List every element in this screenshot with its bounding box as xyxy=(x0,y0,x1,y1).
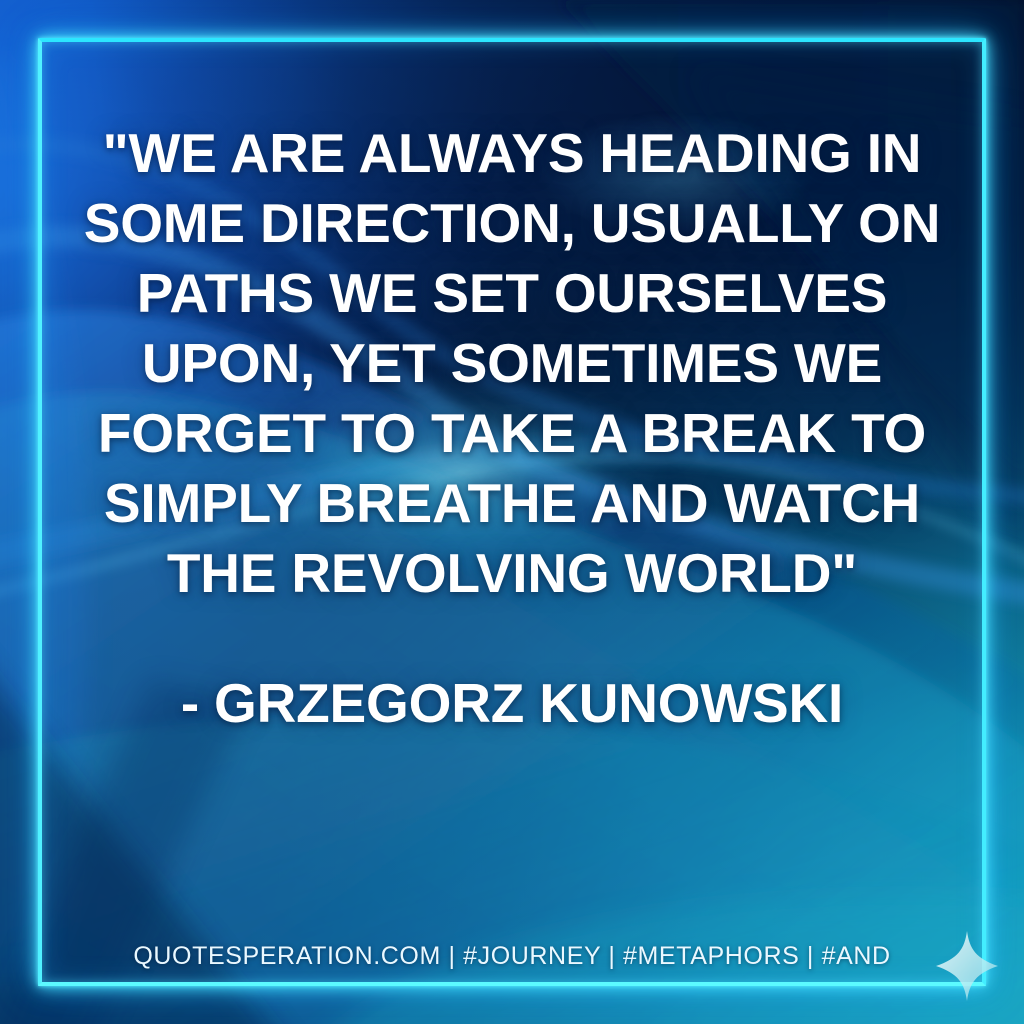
quote-line-2: SOME DIRECTION, USUALLY ON xyxy=(62,188,962,258)
footer-credit-text: QUOTESPERATION.COM | #JOURNEY | #METAPHO… xyxy=(133,942,890,971)
quote-line-5: FORGET TO TAKE A BREAK TO xyxy=(62,398,962,468)
footer-bar: QUOTESPERATION.COM | #JOURNEY | #METAPHO… xyxy=(0,942,1024,971)
quote-block: "WE ARE ALWAYS HEADING IN SOME DIRECTION… xyxy=(62,118,962,738)
quote-line-7: THE REVOLVING WORLD" xyxy=(62,538,962,608)
quote-line-3: PATHS WE SET OURSELVES xyxy=(62,258,962,328)
quote-card: "WE ARE ALWAYS HEADING IN SOME DIRECTION… xyxy=(0,0,1024,1024)
quote-line-6: SIMPLY BREATHE AND WATCH xyxy=(62,468,962,538)
author-attribution: - GRZEGORZ KUNOWSKI xyxy=(62,668,962,738)
card-content: "WE ARE ALWAYS HEADING IN SOME DIRECTION… xyxy=(0,0,1024,1024)
quote-line-1: "WE ARE ALWAYS HEADING IN xyxy=(62,118,962,188)
quote-line-4: UPON, YET SOMETIMES WE xyxy=(62,328,962,398)
sparkle-icon xyxy=(936,931,998,1001)
